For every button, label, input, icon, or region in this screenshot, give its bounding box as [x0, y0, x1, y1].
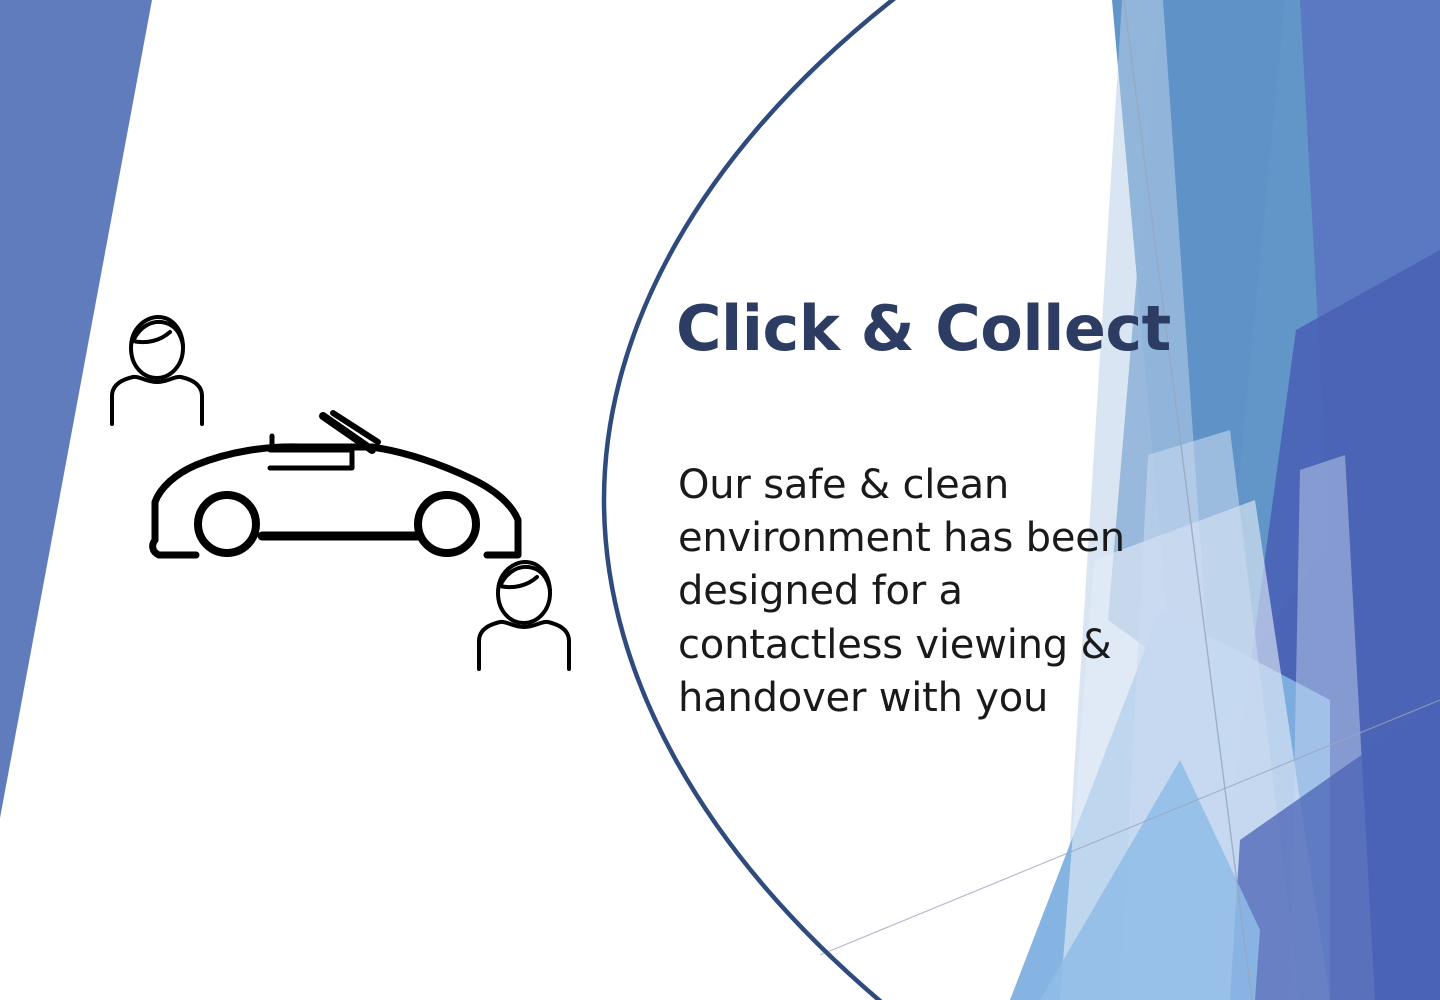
- slide-title: Click & Collect: [676, 296, 1146, 361]
- slide-body-text: Our safe & clean environment has been de…: [678, 459, 1143, 725]
- text-content-block: Click & Collect Our safe & clean environ…: [676, 296, 1146, 361]
- slide-canvas: Click & Collect Our safe & clean environ…: [0, 0, 1440, 1000]
